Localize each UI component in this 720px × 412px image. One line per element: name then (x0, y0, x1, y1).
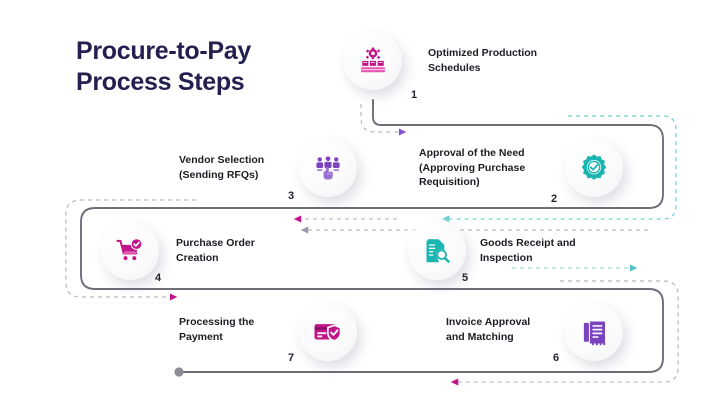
step-2-label: Approval of the Need (Approving Purchase… (419, 146, 589, 190)
cart-check-icon (101, 222, 159, 280)
step-4-label: Purchase Order Creation (176, 236, 336, 265)
step-3-number: 3 (288, 190, 294, 202)
infographic-canvas: Procure-to-Pay Process Steps (0, 0, 720, 412)
step-6-label: Invoice Approval and Matching (446, 315, 606, 344)
track-end-dot (174, 367, 183, 376)
step-5-label: Goods Receipt and Inspection (480, 236, 645, 265)
gear-server-icon (344, 32, 402, 90)
step-2-number: 2 (551, 193, 557, 205)
step-1-label: Optimized Production Schedules (428, 46, 593, 75)
step-5-number: 5 (462, 272, 468, 284)
document-search-icon (408, 222, 466, 280)
step-7-number: 7 (288, 352, 294, 364)
step-7-label: Processing the Payment (179, 315, 334, 344)
step-4-number: 4 (155, 272, 161, 284)
step-1-number: 1 (411, 89, 417, 101)
step-6-number: 6 (553, 352, 559, 364)
dashed-connector-1 (361, 104, 405, 132)
step-3-label: Vendor Selection (Sending RFQs) (179, 153, 339, 182)
page-title: Procure-to-Pay Process Steps (76, 36, 251, 98)
